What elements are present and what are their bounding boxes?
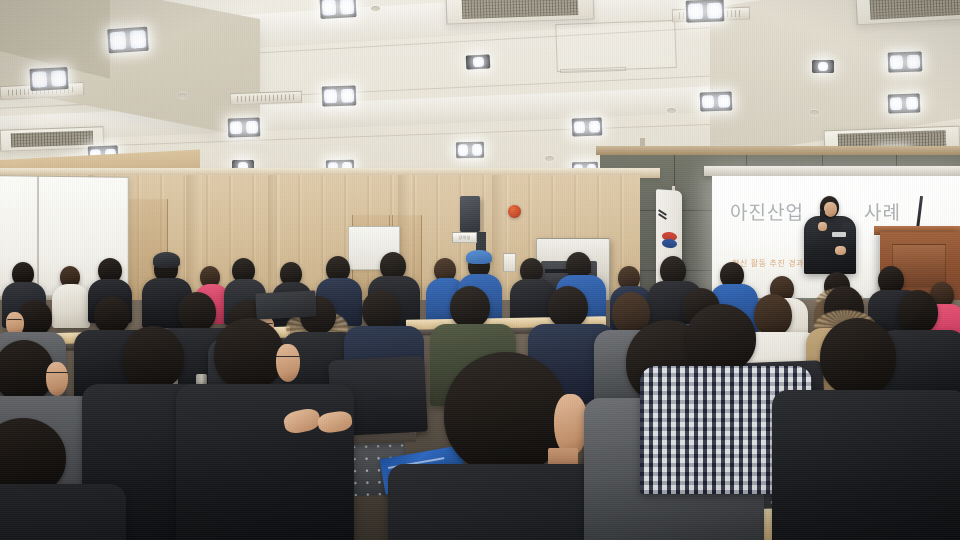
- stone-wall-trim: [596, 146, 960, 155]
- light-switch-plate[interactable]: [503, 253, 516, 272]
- presenter-badge: [832, 232, 846, 237]
- sprinkler-head: [667, 108, 676, 113]
- ceiling-downlight: [319, 0, 356, 19]
- sprinkler-head: [371, 6, 380, 11]
- ceiling-downlight: [107, 27, 149, 54]
- ceiling-downlight: [29, 67, 68, 91]
- ceiling-downlight: [888, 51, 923, 72]
- ceiling-downlight: [700, 91, 733, 111]
- laptop[interactable]: [255, 290, 316, 319]
- ceiling-downlight: [686, 0, 725, 23]
- ceiling-air-vent: [230, 91, 302, 106]
- projection-screen-housing: [704, 166, 960, 176]
- smoke-detector: [810, 110, 819, 115]
- presenter-face: [824, 202, 837, 217]
- presenter-hand: [818, 222, 827, 231]
- ceiling-downlight: [322, 85, 357, 106]
- slide-title-left: 아진산업: [730, 198, 804, 225]
- fire-alarm-bell-icon: [508, 205, 521, 218]
- ceiling-downlight: [456, 142, 484, 158]
- sprinkler-head: [178, 93, 187, 98]
- presenter-hand: [835, 246, 846, 255]
- flag-taeguk-blue: [662, 239, 677, 249]
- ceiling-downlight: [572, 117, 603, 136]
- slide-title-right: 사례: [864, 198, 901, 225]
- ceiling-downlight: [466, 54, 491, 69]
- room-sign: 강의실: [452, 232, 477, 243]
- ceiling-downlight: [812, 60, 834, 73]
- smoke-detector: [545, 156, 554, 161]
- seminar-room-photograph: 강의실 아진산업 사례 혁신 활동 추진 경과 개요: [0, 0, 960, 540]
- ceiling-downlight: [888, 93, 921, 113]
- whiteboard-divider: [37, 177, 39, 296]
- ceiling-downlight: [228, 117, 261, 137]
- wall-speaker: [460, 196, 480, 232]
